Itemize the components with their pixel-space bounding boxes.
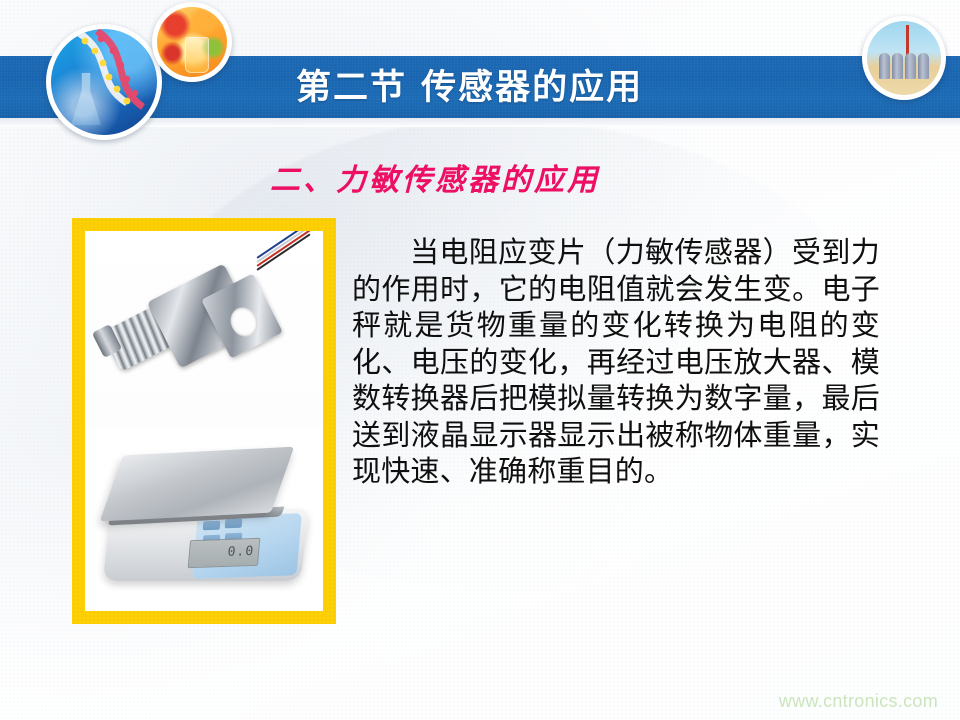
silo-shape — [918, 53, 929, 79]
load-cell-wire — [257, 245, 317, 297]
load-cell-photo — [85, 231, 323, 427]
grain-silo-photo — [862, 16, 946, 100]
dna-helix-icon — [51, 29, 157, 135]
section-subtitle: 二、力敏传感器的应用 — [270, 155, 600, 199]
figure-frame: 0.0 — [72, 218, 336, 624]
fruit-juice-photo-inner — [157, 7, 227, 77]
silo-shape — [879, 53, 890, 79]
grain-silo-photo-inner — [867, 21, 941, 95]
page-title: 第二节 传感器的应用 — [296, 62, 643, 114]
silo-mast — [906, 25, 909, 55]
footer-watermark: www.cntronics.com — [779, 691, 938, 712]
slide-canvas: 第二节 传感器的应用 — [0, 0, 960, 720]
juice-glass-shape — [185, 37, 209, 73]
silo-shape — [892, 53, 903, 79]
scale-button-zero — [203, 521, 221, 531]
dna-lab-photo — [46, 24, 162, 140]
dna-lab-photo-inner — [51, 29, 157, 135]
scale-lcd-value: 0.0 — [227, 544, 255, 560]
scale-pan — [100, 447, 294, 522]
silo-group — [879, 45, 935, 79]
electronic-scale-photo: 0.0 — [85, 427, 323, 611]
wire-red — [256, 231, 310, 267]
body-paragraph: 当电阻应变片（力敏传感器）受到力的作用时，它的电阻值就会发生变。电子秤就是货物重… — [352, 234, 880, 490]
fruit-juice-photo — [152, 2, 232, 82]
silo-shape — [905, 53, 916, 79]
scale-lcd-display: 0.0 — [188, 538, 261, 568]
scale-button-tare — [225, 519, 243, 529]
figure-inner: 0.0 — [85, 231, 323, 611]
